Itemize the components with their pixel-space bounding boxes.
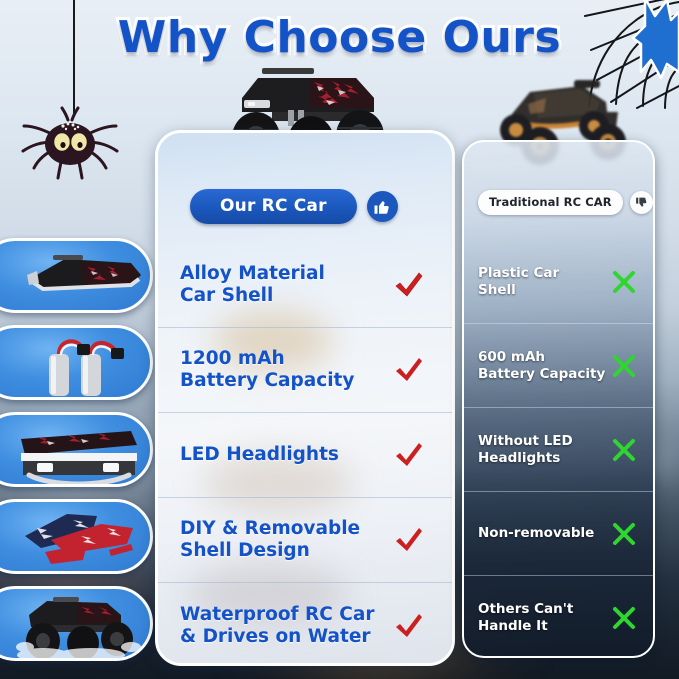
traditional-badge-label: Traditional RC CAR: [478, 190, 623, 215]
traditional-feature-label: 600 mAh Battery Capacity: [478, 349, 607, 383]
traditional-badge: Traditional RC CAR: [478, 190, 653, 215]
thumb-waterproof-driving[interactable]: [0, 586, 153, 661]
ours-feature-row[interactable]: 1200 mAh Battery Capacity: [158, 328, 452, 413]
traditional-feature-row[interactable]: Without LED Headlights: [464, 408, 653, 492]
red-check-icon: [388, 356, 430, 384]
ours-feature-row[interactable]: Waterproof RC Car & Drives on Water: [158, 583, 452, 666]
ours-badge: Our RC Car: [190, 189, 398, 224]
thumb-batteries[interactable]: [0, 325, 153, 400]
ours-feature-row[interactable]: Alloy Material Car Shell: [158, 243, 452, 328]
traditional-feature-label: Others Can't Handle It: [478, 601, 607, 635]
thumb-led-headlights[interactable]: [0, 412, 153, 487]
red-check-icon: [388, 612, 430, 640]
ours-feature-label: DIY & Removable Shell Design: [180, 518, 388, 562]
ours-feature-label: LED Headlights: [180, 444, 388, 466]
green-cross-icon: [607, 605, 641, 631]
traditional-feature-row[interactable]: Others Can't Handle It: [464, 576, 653, 658]
traditional-feature-row[interactable]: Plastic Car Shell: [464, 240, 653, 324]
traditional-feature-row[interactable]: 600 mAh Battery Capacity: [464, 324, 653, 408]
thumb-diy-shell-parts[interactable]: [0, 499, 153, 574]
thumbs-up-icon: [367, 191, 398, 222]
ours-panel: Our RC Car Alloy Material Car Shell: [155, 130, 455, 666]
ours-feature-label: Alloy Material Car Shell: [180, 263, 388, 307]
ours-feature-list: Alloy Material Car Shell 1200 mAh Batter…: [158, 243, 452, 666]
thumbs-down-icon: [630, 191, 653, 214]
traditional-feature-label: Plastic Car Shell: [478, 265, 607, 299]
ours-feature-row[interactable]: DIY & Removable Shell Design: [158, 498, 452, 583]
ours-badge-label: Our RC Car: [190, 189, 357, 224]
hanging-spider-icon: [10, 100, 130, 180]
ours-feature-label: Waterproof RC Car & Drives on Water: [180, 604, 388, 648]
traditional-feature-label: Without LED Headlights: [478, 433, 607, 467]
green-cross-icon: [607, 353, 641, 379]
ours-feature-label: 1200 mAh Battery Capacity: [180, 348, 388, 392]
page-title: Why Choose Ours: [0, 12, 679, 63]
green-cross-icon: [607, 437, 641, 463]
ours-feature-row[interactable]: LED Headlights: [158, 413, 452, 498]
red-check-icon: [388, 526, 430, 554]
thumbnail-rail: [0, 238, 156, 673]
green-cross-icon: [607, 521, 641, 547]
traditional-feature-row[interactable]: Non-removable: [464, 492, 653, 576]
thumb-car-shell[interactable]: [0, 238, 153, 313]
traditional-feature-list: Plastic Car Shell 600 mAh Battery Capaci…: [464, 240, 653, 658]
comparison-infographic: Why Choose Ours: [0, 0, 679, 679]
page-title-text: Why Choose Ours: [118, 12, 561, 63]
red-check-icon: [388, 441, 430, 469]
traditional-panel: Traditional RC CAR Plastic Car Shell 600…: [462, 140, 655, 658]
green-cross-icon: [607, 269, 641, 295]
red-check-icon: [388, 271, 430, 299]
traditional-feature-label: Non-removable: [478, 525, 607, 542]
